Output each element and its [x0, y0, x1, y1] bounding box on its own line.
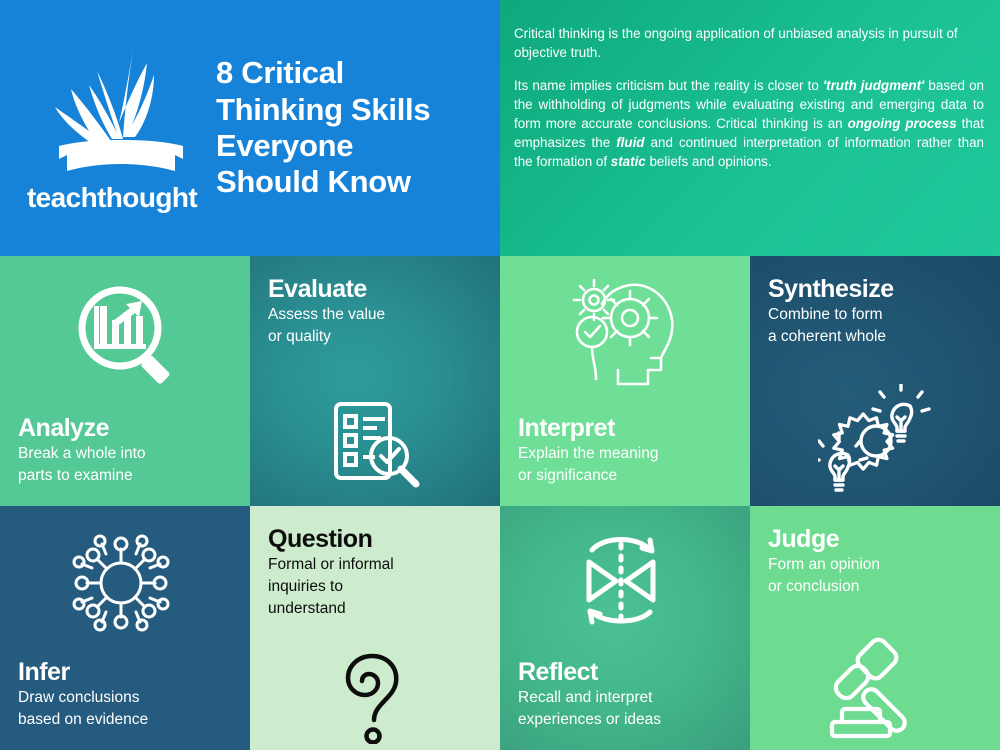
skill-text-evaluate: Evaluate Assess the value or quality: [268, 276, 482, 347]
skill-text-question: Question Formal or informal inquiries to…: [268, 526, 482, 619]
title-line-2: Thinking Skills: [216, 92, 430, 128]
intro-text: Its name implies criticism but the reali…: [514, 78, 823, 93]
infographic-root: teachthought 8 Critical Thinking Skills …: [0, 0, 1000, 750]
skill-text-judge: Judge Form an opinion or conclusion: [768, 526, 982, 597]
skill-title: Reflect: [518, 659, 732, 686]
skill-desc-line-3: understand: [268, 599, 482, 619]
skill-title: Question: [268, 526, 482, 553]
page-title: 8 Critical Thinking Skills Everyone Shou…: [210, 55, 430, 200]
skill-title: Infer: [18, 659, 232, 686]
skill-desc-line-2: inquiries to: [268, 577, 482, 597]
skill-desc-line-1: Assess the value: [268, 305, 482, 325]
network-nodes-icon: [66, 528, 176, 638]
skill-text-interpret: Interpret Explain the meaning or signifi…: [518, 415, 732, 486]
skill-text-analyze: Analyze Break a whole into parts to exam…: [18, 415, 232, 486]
intro-emphasis: fluid: [616, 135, 644, 150]
skill-desc-line-1: Recall and interpret: [518, 688, 732, 708]
skill-card-judge[interactable]: Judge Form an opinion or conclusion: [750, 506, 1000, 750]
skill-title: Analyze: [18, 415, 232, 442]
lightbulbs-gear-icon: [818, 384, 936, 492]
title-line-3: Everyone: [216, 128, 430, 164]
intro-paragraph-1: Critical thinking is the ongoing applica…: [514, 24, 984, 62]
head-gears-icon: [556, 274, 691, 394]
skill-desc-line-1: Form an opinion: [768, 555, 982, 575]
intro-text: beliefs and opinions.: [646, 154, 772, 169]
skill-text-synthesize: Synthesize Combine to form a coherent wh…: [768, 276, 982, 347]
skill-card-reflect[interactable]: Reflect Recall and interpret experiences…: [500, 506, 750, 750]
spiral-question-mark-icon: [336, 652, 416, 744]
skill-desc-line-1: Break a whole into: [18, 444, 232, 464]
skill-desc-line-1: Explain the meaning: [518, 444, 732, 464]
skill-text-infer: Infer Draw conclusions based on evidence: [18, 659, 232, 730]
logo-block: teachthought: [14, 45, 210, 212]
intro-emphasis: ongoing process: [848, 116, 957, 131]
gavel-icon: [820, 636, 932, 744]
teachthought-book-logo-icon: [37, 45, 187, 180]
skills-grid: Analyze Break a whole into parts to exam…: [0, 256, 1000, 750]
logo-wordmark: teachthought: [27, 184, 197, 212]
skill-desc-line-2: experiences or ideas: [518, 710, 732, 730]
skill-title: Judge: [768, 526, 982, 553]
header: teachthought 8 Critical Thinking Skills …: [0, 0, 1000, 256]
intro-paragraph-2: Its name implies criticism but the reali…: [514, 76, 984, 171]
intro-emphasis: static: [611, 154, 646, 169]
skill-title: Interpret: [518, 415, 732, 442]
checklist-magnifier-icon: [328, 398, 428, 490]
skill-desc-line-2: or significance: [518, 466, 732, 486]
skill-desc-line-2: or quality: [268, 327, 482, 347]
magnifier-bar-chart-icon: [68, 276, 183, 391]
skill-desc-line-1: Draw conclusions: [18, 688, 232, 708]
skill-card-infer[interactable]: Infer Draw conclusions based on evidence: [0, 506, 250, 750]
mirrored-triangles-arrows-icon: [562, 528, 680, 626]
skill-desc-line-2: parts to examine: [18, 466, 232, 486]
skill-title: Evaluate: [268, 276, 482, 303]
skill-desc-line-1: Formal or informal: [268, 555, 482, 575]
skill-card-interpret[interactable]: Interpret Explain the meaning or signifi…: [500, 256, 750, 506]
skill-desc-line-2: based on evidence: [18, 710, 232, 730]
skill-desc-line-2: a coherent whole: [768, 327, 982, 347]
title-line-4: Should Know: [216, 164, 430, 200]
skill-title: Synthesize: [768, 276, 982, 303]
intro-emphasis: 'truth judgment': [823, 78, 924, 93]
intro-panel: Critical thinking is the ongoing applica…: [500, 0, 1000, 256]
skill-card-evaluate[interactable]: Evaluate Assess the value or quality: [250, 256, 500, 506]
title-line-1: 8 Critical: [216, 55, 430, 91]
skill-text-reflect: Reflect Recall and interpret experiences…: [518, 659, 732, 730]
brand-panel: teachthought 8 Critical Thinking Skills …: [0, 0, 500, 256]
skill-desc-line-1: Combine to form: [768, 305, 982, 325]
skill-card-synthesize[interactable]: Synthesize Combine to form a coherent wh…: [750, 256, 1000, 506]
skill-card-analyze[interactable]: Analyze Break a whole into parts to exam…: [0, 256, 250, 506]
skill-desc-line-2: or conclusion: [768, 577, 982, 597]
skill-card-question[interactable]: Question Formal or informal inquiries to…: [250, 506, 500, 750]
